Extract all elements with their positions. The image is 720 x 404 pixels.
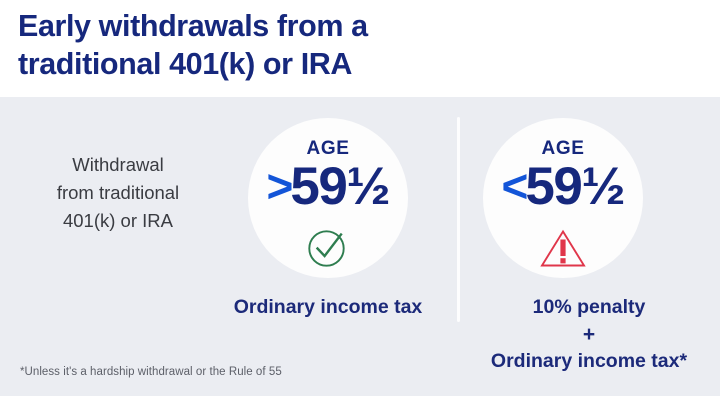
age-value-over: >59½ [226, 160, 430, 213]
comparator-less-than: < [501, 160, 525, 212]
outcome-under-age-line-1: 10% penalty [468, 294, 710, 322]
page-title-line-2: traditional 401(k) or IRA [18, 46, 658, 84]
age-fraction-over: ½ [346, 157, 389, 216]
check-circle-icon [248, 224, 408, 270]
column-divider [457, 117, 460, 322]
title-band: Early withdrawals from a traditional 401… [0, 0, 720, 97]
page-title-line-1: Early withdrawals from a [18, 8, 658, 46]
outcome-under-age-line-3: Ordinary income tax* [468, 348, 710, 376]
withdrawal-source-label: Withdrawal from traditional 401(k) or IR… [12, 151, 224, 235]
outcome-under-age: 10% penalty + Ordinary income tax* [468, 294, 710, 376]
age-number-under: 59 [525, 157, 581, 216]
age-fraction-under: ½ [581, 157, 624, 216]
page-title: Early withdrawals from a traditional 401… [18, 8, 658, 83]
comparator-greater-than: > [266, 160, 290, 212]
age-value-under: <59½ [461, 160, 665, 213]
withdrawal-source-line-2: from traditional [12, 179, 224, 207]
withdrawal-source-line-1: Withdrawal [12, 151, 224, 179]
outcome-over-age: Ordinary income tax [208, 294, 448, 322]
warning-triangle-icon [483, 226, 643, 270]
outcome-over-age-line-1: Ordinary income tax [208, 294, 448, 322]
age-circle-under: AGE <59½ [483, 118, 643, 278]
outcome-under-age-plus: + [468, 322, 710, 348]
age-number-over: 59 [290, 157, 346, 216]
withdrawal-source-line-3: 401(k) or IRA [12, 207, 224, 235]
age-circle-over: AGE >59½ [248, 118, 408, 278]
footnote: *Unless it's a hardship withdrawal or th… [20, 366, 282, 378]
